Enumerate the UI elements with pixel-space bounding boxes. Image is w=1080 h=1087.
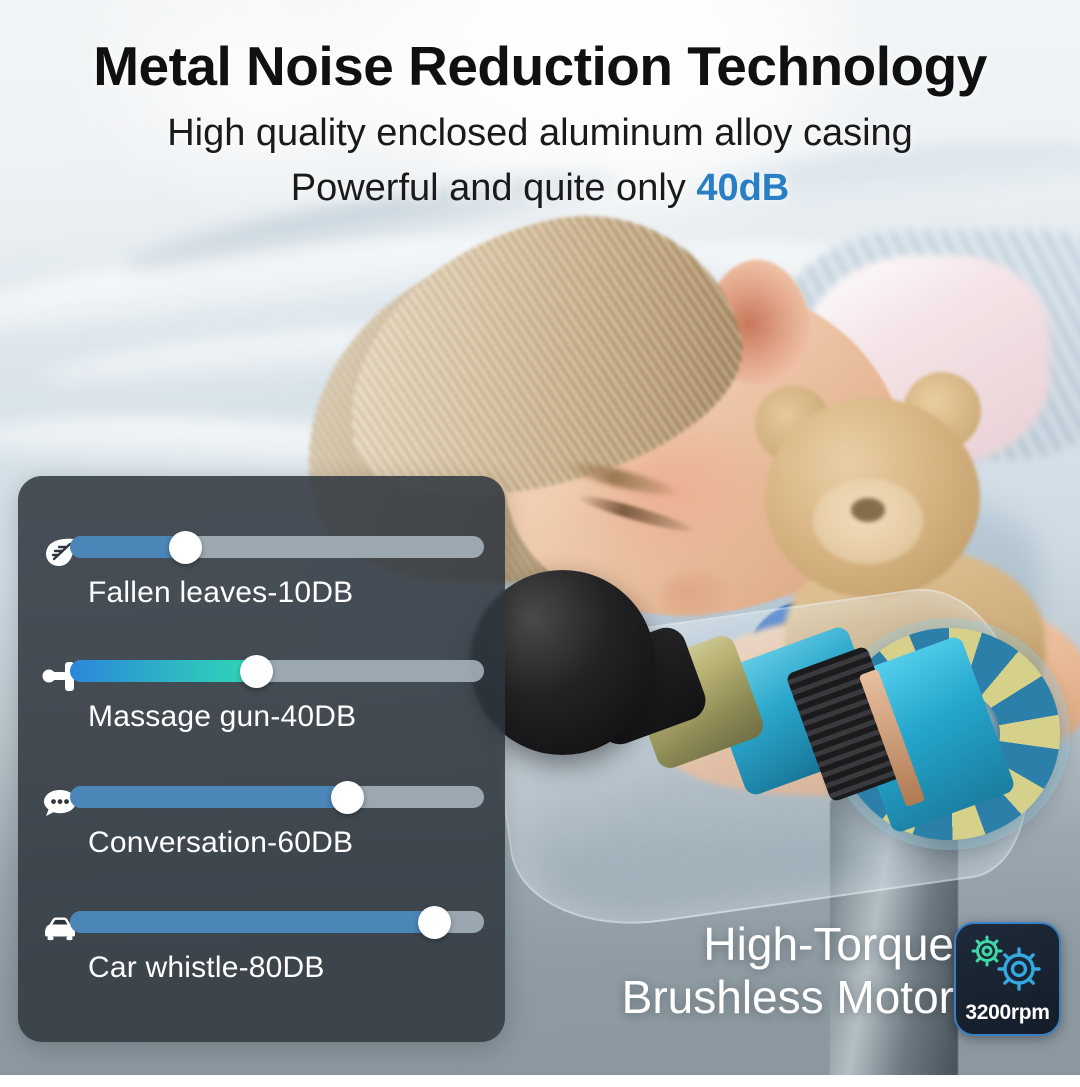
noise-row-conversation: Conversation-60DB [18,778,505,904]
page-title: Metal Noise Reduction Technology [0,36,1080,98]
rpm-value: 3200rpm [956,1001,1059,1025]
teddy-nose [851,498,885,522]
gears-icon [956,930,1059,996]
noise-row-label: Massage gun-40DB [88,700,356,734]
slider-fill [70,660,256,682]
noise-slider-fallen-leaves[interactable] [70,534,484,560]
motor-callout-line-1: High-Torque [530,918,954,971]
slider-thumb[interactable] [331,781,364,814]
rpm-badge: 3200rpm [954,922,1061,1036]
slider-fill [70,911,434,933]
subtitle-secondary-text: Powerful and quite only [291,167,697,209]
noise-row-fallen-leaves: Fallen leaves-10DB [18,528,505,654]
noise-row-label: Conversation-60DB [88,826,353,860]
subtitle-primary: High quality enclosed aluminum alloy cas… [0,112,1080,156]
bottom-white-strip [0,1075,1080,1087]
noise-comparison-panel: Fallen leaves-10DB Massage gun-40DB [18,476,505,1042]
slider-thumb[interactable] [240,655,273,688]
motor-callout-text: High-Torque Brushless Motor [530,918,954,1025]
noise-slider-car-whistle[interactable] [70,909,484,935]
noise-row-label: Fallen leaves-10DB [88,576,353,610]
noise-row-massage-gun: Massage gun-40DB [18,652,505,778]
noise-slider-conversation[interactable] [70,784,484,810]
subtitle-secondary: Powerful and quite only 40dB [0,167,1080,211]
motor-callout: High-Torque Brushless Motor [530,918,1070,1063]
noise-row-label: Car whistle-80DB [88,951,325,985]
db-accent-value: 40dB [696,167,789,209]
slider-thumb[interactable] [169,531,202,564]
noise-slider-massage-gun[interactable] [70,658,484,684]
noise-row-car-whistle: Car whistle-80DB [18,903,505,1029]
product-marketing-poster: Metal Noise Reduction Technology High qu… [0,0,1080,1087]
headline-block: Metal Noise Reduction Technology High qu… [0,0,1080,211]
motor-callout-line-2: Brushless Motor [530,971,954,1024]
slider-fill [70,786,347,808]
slider-thumb[interactable] [418,906,451,939]
